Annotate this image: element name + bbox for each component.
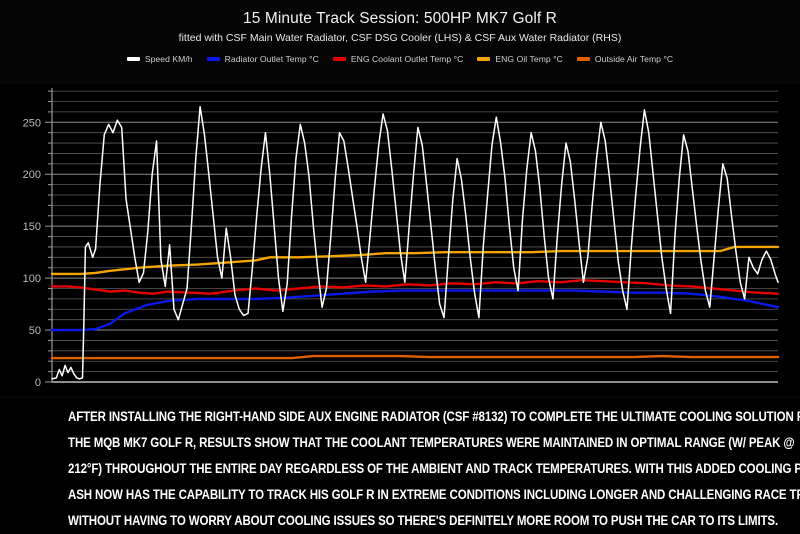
legend-item[interactable]: Outside Air Temp °C — [577, 54, 673, 64]
y-tick-label: 250 — [23, 117, 41, 129]
legend-swatch-icon — [207, 57, 220, 61]
legend-item[interactable]: ENG Oil Temp °C — [477, 54, 563, 64]
caption-line: THE MQB MK7 GOLF R, RESULTS SHOW THAT TH… — [68, 430, 732, 456]
legend-item-label: Outside Air Temp °C — [595, 54, 673, 64]
legend-swatch-icon — [333, 57, 346, 61]
legend-item-label: Radiator Outlet Temp °C — [225, 54, 319, 64]
legend-swatch-icon — [127, 57, 140, 61]
caption-line: WITHOUT HAVING TO WORRY ABOUT COOLING IS… — [68, 508, 732, 534]
legend-item-label: ENG Coolant Outlet Temp °C — [351, 54, 464, 64]
legend-item[interactable]: Radiator Outlet Temp °C — [207, 54, 319, 64]
y-tick-label: 0 — [35, 377, 41, 389]
y-tick-label: 50 — [29, 325, 41, 337]
caption-line: ASH NOW HAS THE CAPABILITY TO TRACK HIS … — [68, 482, 732, 508]
legend-item[interactable]: ENG Coolant Outlet Temp °C — [333, 54, 464, 64]
chart-subtitle: fitted with CSF Main Water Radiator, CSF… — [0, 30, 800, 46]
y-tick-label: 150 — [23, 221, 41, 233]
caption-block: AFTER INSTALLING THE RIGHT-HAND SIDE AUX… — [0, 398, 800, 533]
legend-item-label: Speed KM/h — [145, 54, 193, 64]
chart-title: 15 Minute Track Session: 500HP MK7 Golf … — [0, 9, 800, 29]
caption-line: AFTER INSTALLING THE RIGHT-HAND SIDE AUX… — [68, 404, 732, 430]
legend-item[interactable]: Speed KM/h — [127, 54, 193, 64]
legend-item-label: ENG Oil Temp °C — [495, 54, 563, 64]
caption-line: 212°F) THROUGHOUT THE ENTIRE DAY REGARDL… — [68, 456, 732, 482]
legend-swatch-icon — [577, 57, 590, 61]
plot-background — [0, 84, 800, 396]
y-tick-label: 200 — [23, 169, 41, 181]
chart-plot-svg: 050100150200250 — [0, 84, 800, 396]
chart-page: 15 Minute Track Session: 500HP MK7 Golf … — [0, 0, 800, 533]
chart-legend: Speed KM/hRadiator Outlet Temp °CENG Coo… — [0, 52, 800, 66]
legend-swatch-icon — [477, 57, 490, 61]
chart-header: 15 Minute Track Session: 500HP MK7 Golf … — [0, 0, 800, 46]
plot-area: 050100150200250 — [0, 84, 800, 396]
y-tick-label: 100 — [23, 273, 41, 285]
